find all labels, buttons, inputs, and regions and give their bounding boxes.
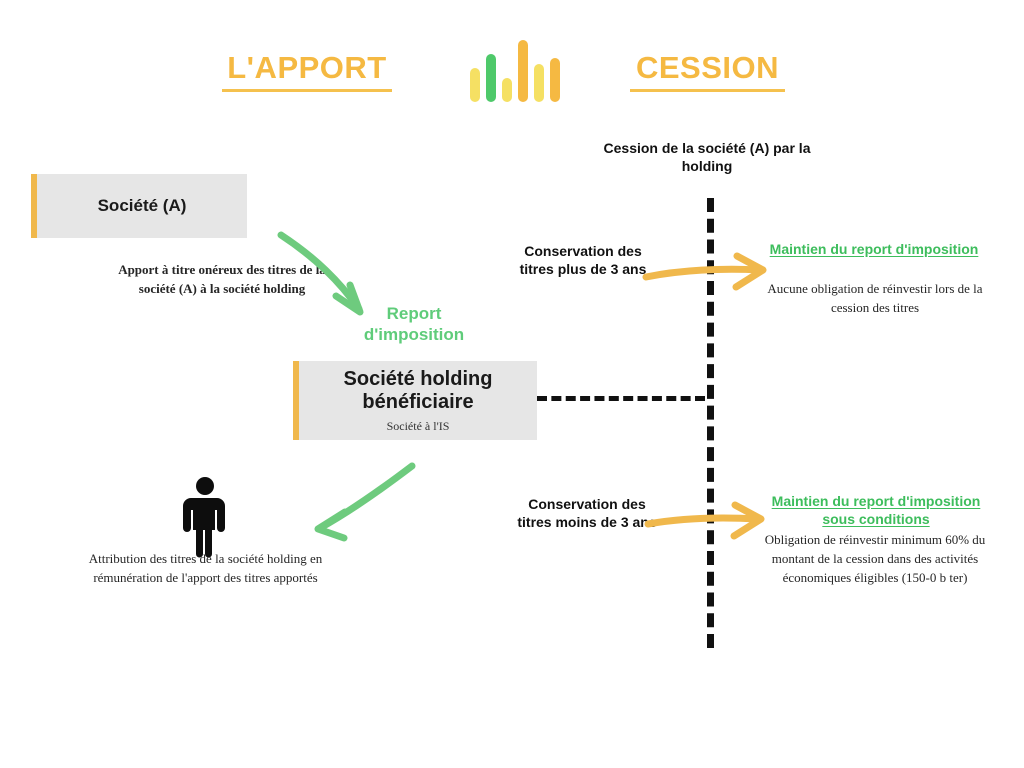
logo-bar-4 [518, 40, 528, 102]
orange-arrow-top [646, 256, 763, 287]
diagram-canvas: L'APPORT CESSION Société (A) Apport à ti… [0, 0, 1024, 768]
title-apport: L'APPORT [222, 50, 392, 92]
orange-arrow-bottom [648, 505, 761, 536]
person-icon [183, 477, 225, 558]
title-cession: CESSION [630, 50, 785, 92]
logo-bar-3 [502, 78, 512, 102]
condition-moins-3-ans: Conservation des titres moins de 3 ans [512, 495, 662, 531]
result-heading-bottom: Maintien du report d'imposition sous con… [762, 492, 990, 528]
holding-box: Société holding bénéficiaire Société à l… [293, 361, 537, 440]
societe-a-box: Société (A) [31, 174, 247, 238]
holding-title: Société holding bénéficiaire [299, 368, 537, 414]
report-imposition-label: Report d'imposition [345, 303, 483, 346]
societe-a-title: Société (A) [98, 196, 187, 216]
vertical-dashed-divider [707, 198, 714, 648]
result-body-bottom: Obligation de réinvestir minimum 60% du … [758, 531, 992, 588]
result-heading-top: Maintien du report d'imposition [768, 240, 980, 258]
holding-subtitle: Société à l'IS [387, 419, 450, 434]
logo-bar-2 [486, 54, 496, 102]
result-heading-top-text: Maintien du report d'imposition [770, 241, 979, 257]
logo-bar-1 [470, 68, 480, 102]
horizontal-dashed-connector [537, 396, 705, 401]
logo-bar-5 [534, 64, 544, 102]
cession-header: Cession de la société (A) par la holding [592, 139, 822, 175]
apport-description: Apport à titre onéreux des titres de la … [117, 261, 327, 299]
equalizer-bars-logo [470, 40, 570, 102]
green-arrow-attribution [318, 466, 412, 538]
result-heading-bottom-text: Maintien du report d'imposition sous con… [772, 493, 981, 527]
condition-plus-3-ans: Conservation des titres plus de 3 ans [508, 242, 658, 278]
result-body-top: Aucune obligation de réinvestir lors de … [762, 280, 988, 318]
attribution-description: Attribution des titres de la société hol… [88, 550, 323, 588]
logo-bar-6 [550, 58, 560, 102]
